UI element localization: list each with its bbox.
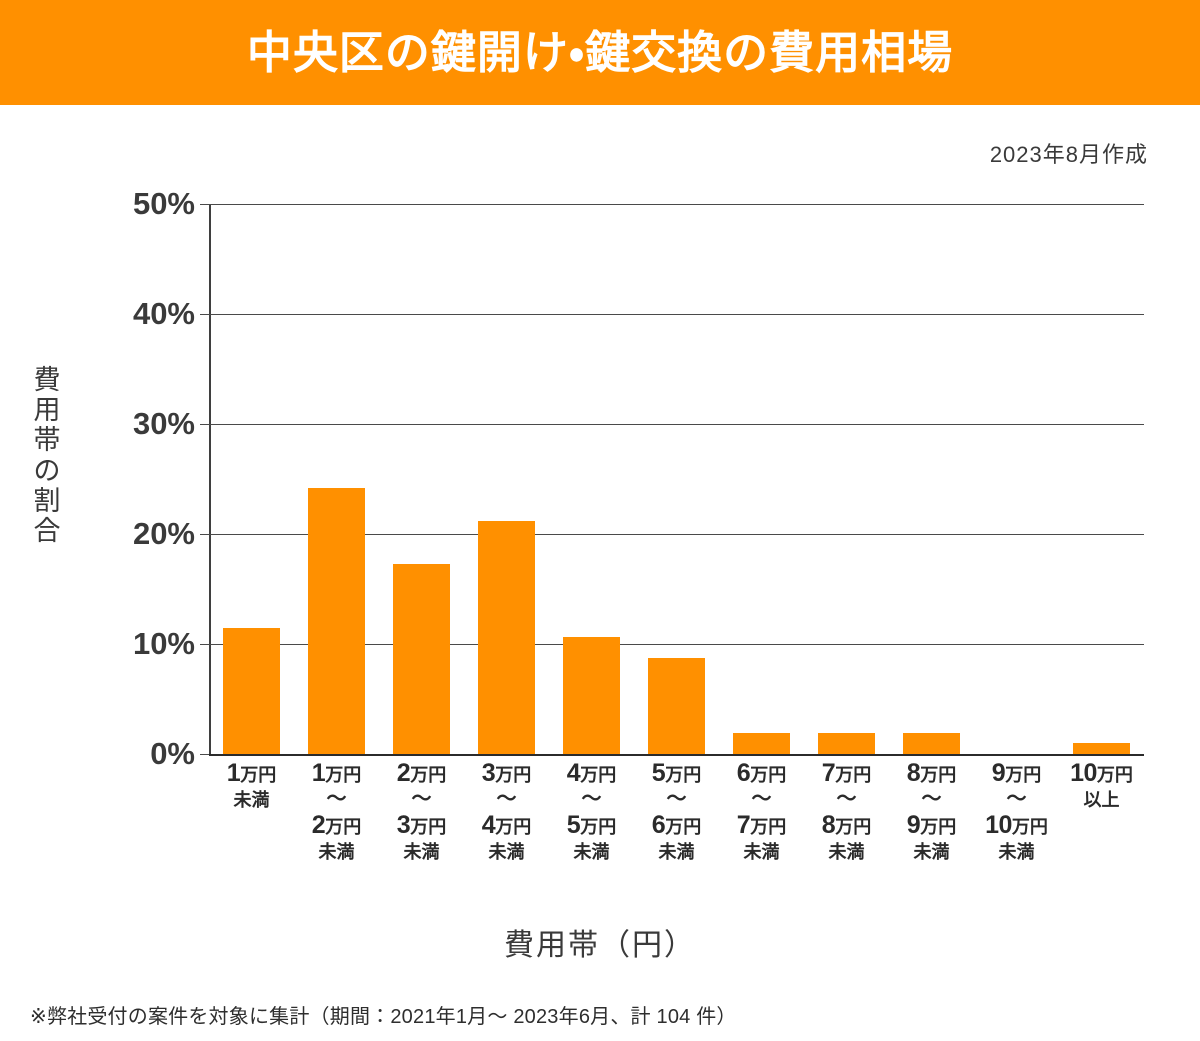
y-axis-tick-label: 20%	[90, 516, 195, 552]
bar	[818, 733, 875, 754]
x-axis-tick-label: 6万円～7万円未満	[719, 760, 804, 866]
header-banner: 中央区の鍵開け・鍵交換の費用相場	[0, 0, 1200, 105]
y-axis-tick	[200, 754, 209, 755]
y-axis-tick-label: 50%	[90, 186, 195, 222]
y-axis-tick-label: 30%	[90, 406, 195, 442]
x-axis-tick-label: 3万円～4万円未満	[464, 760, 549, 866]
bar-slot	[294, 204, 379, 754]
bar-slot	[549, 204, 634, 754]
bar-slot	[1059, 204, 1144, 754]
bar-slot	[634, 204, 719, 754]
y-axis-tick-label: 0%	[90, 736, 195, 772]
x-axis-tick-labels: 1万円未満1万円～2万円未満2万円～3万円未満3万円～4万円未満4万円～5万円未…	[209, 760, 1144, 866]
y-axis-tick	[200, 204, 209, 205]
bar	[1073, 743, 1130, 754]
bar	[903, 733, 960, 754]
bar-slot	[804, 204, 889, 754]
bar	[563, 637, 620, 754]
footnote-text: ※弊社受付の案件を対象に集計（期間：2021年1月～ 2023年6月、計 104…	[30, 1000, 737, 1029]
x-axis-tick-label: 5万円～6万円未満	[634, 760, 719, 866]
bar-slot	[719, 204, 804, 754]
bar-slot	[889, 204, 974, 754]
x-axis-tick-label: 7万円～8万円未満	[804, 760, 889, 866]
x-axis-tick-label: 10万円以上	[1059, 760, 1144, 866]
x-axis-tick-label: 4万円～5万円未満	[549, 760, 634, 866]
bar	[478, 521, 535, 754]
bar	[648, 658, 705, 754]
page-title: 中央区の鍵開け・鍵交換の費用相場	[247, 30, 953, 75]
bar-slot	[209, 204, 294, 754]
bar	[223, 628, 280, 755]
y-axis-title: 費用帯の割合	[30, 365, 64, 546]
y-axis-tick	[200, 644, 209, 645]
y-axis-tick	[200, 314, 209, 315]
y-axis-tick	[200, 534, 209, 535]
bar-slot	[379, 204, 464, 754]
x-axis-tick-label: 9万円～10万円未満	[974, 760, 1059, 866]
y-axis-tick-label: 40%	[90, 296, 195, 332]
x-axis-tick-label: 2万円～3万円未満	[379, 760, 464, 866]
x-axis-tick-label: 8万円～9万円未満	[889, 760, 974, 866]
bar-slot	[974, 204, 1059, 754]
y-axis-tick	[200, 424, 209, 425]
bar	[393, 564, 450, 754]
bar-slot	[464, 204, 549, 754]
bar	[733, 733, 790, 754]
x-axis-title: 費用帯（円）	[0, 920, 1200, 964]
y-axis-tick-label: 10%	[90, 626, 195, 662]
created-date-label: 2023年8月作成	[990, 137, 1148, 169]
x-axis-tick-label: 1万円～2万円未満	[294, 760, 379, 866]
bar	[308, 488, 365, 754]
x-axis-tick-label: 1万円未満	[209, 760, 294, 866]
x-axis-line	[209, 754, 1144, 756]
bar-series	[209, 204, 1144, 754]
